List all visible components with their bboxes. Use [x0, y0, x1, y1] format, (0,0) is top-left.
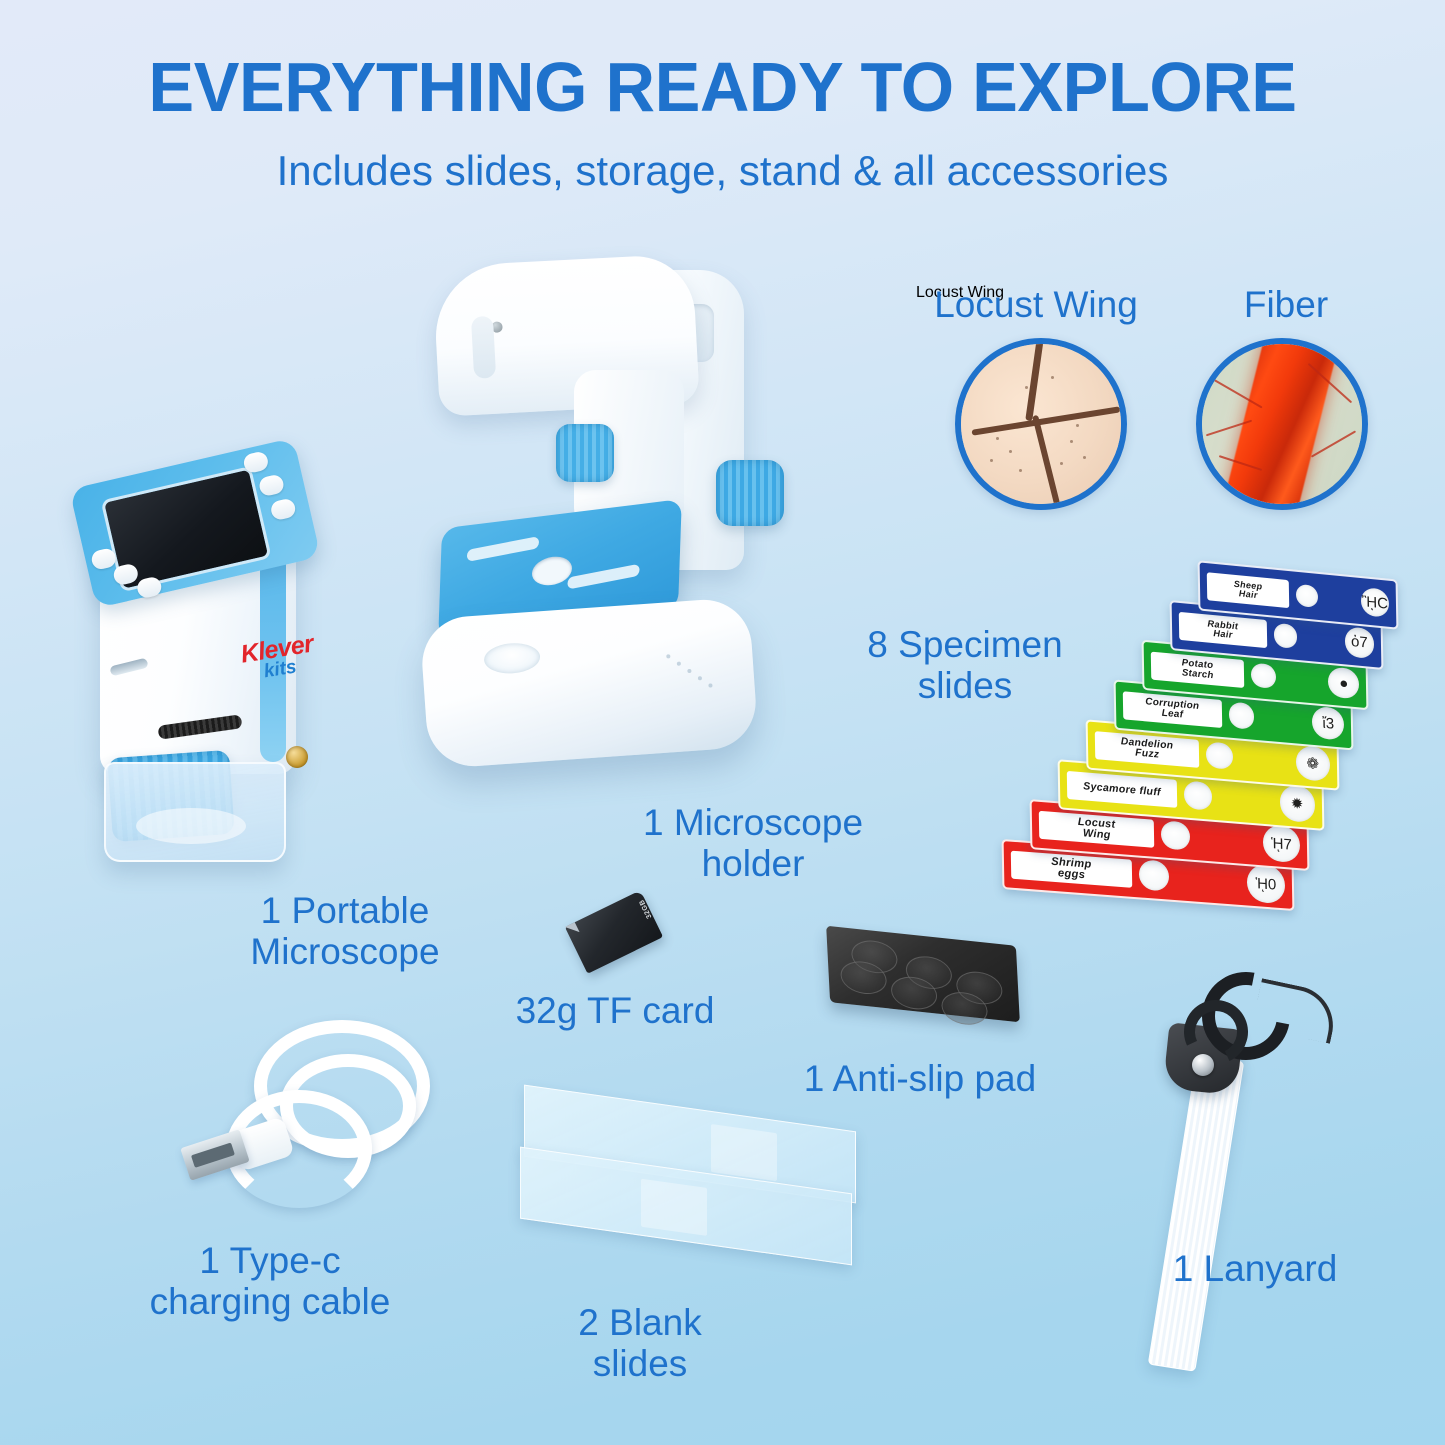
microscope-button-3 — [269, 497, 297, 521]
locust-wing-image — [961, 344, 1121, 504]
specimen-slide-window — [1184, 781, 1212, 811]
specimen-slide-window — [1229, 702, 1255, 730]
base-light-ring — [483, 641, 541, 675]
locust-wing-circle — [955, 338, 1127, 510]
caption-line-1: 1 Type-c — [80, 1240, 460, 1281]
holder-base — [419, 597, 759, 770]
caption-portable-microscope: 1 Portable Microscope — [180, 890, 510, 973]
caption-line-2: slides — [500, 1343, 780, 1384]
specimen-slide-illustration: ὀ7 — [1344, 627, 1374, 659]
caption-microscope-holder: 1 Microscope holder — [588, 802, 918, 885]
blank-slides-product — [520, 1108, 890, 1278]
caption-line-1: 1 Anti-slip pad — [740, 1058, 1100, 1099]
specimen-slide-label: Shrimp eggs — [1011, 851, 1132, 888]
specimen-slide-illustration: ᾚC — [1361, 587, 1389, 618]
caption-line-1: 32g TF card — [450, 990, 780, 1031]
specimen-slide-illustration: ᾙ7 — [1263, 824, 1300, 863]
brand-logo: Klever kits — [239, 633, 317, 684]
caption-anti-slip-pad: 1 Anti-slip pad — [740, 1058, 1100, 1099]
lanyard-strap — [1148, 1054, 1245, 1372]
caption-line-1: 1 Microscope — [588, 802, 918, 843]
specimen-slides-stack: Sheep HairᾚCRabbit Hairὀ7Potato Starch●C… — [1002, 566, 1402, 936]
microscope-clear-base — [104, 762, 286, 862]
stage-clip-right — [567, 564, 639, 590]
specimen-slide-window — [1206, 741, 1233, 770]
specimen-slide-label: Sycamore fluff — [1067, 771, 1177, 808]
specimen-slide-window — [1296, 584, 1318, 608]
fiber-label: Fiber — [1186, 284, 1386, 326]
fiber-circle — [1196, 338, 1368, 510]
microscope-button-2 — [258, 473, 286, 497]
tf-card-body: 32GB — [565, 890, 663, 974]
specimen-slide-illustration: ἴ3 — [1312, 706, 1345, 741]
caption-lanyard: 1 Lanyard — [1110, 1248, 1400, 1289]
portable-microscope-product: Klever kits — [78, 432, 348, 887]
caption-line-1: 2 Blank — [500, 1302, 780, 1343]
microscope-focus-wheel — [157, 714, 242, 740]
holder-knob-left — [556, 424, 614, 482]
specimen-slide-label: Sheep Hair — [1207, 572, 1290, 608]
stage-clip-left — [467, 536, 539, 562]
lanyard-product — [1110, 960, 1340, 1380]
stage-aperture — [531, 554, 572, 587]
caption-line-2: Microscope — [180, 931, 510, 972]
specimen-slide-label: Dandelion Fuzz — [1095, 731, 1200, 768]
tf-card-product: 32GB — [566, 898, 664, 970]
anti-slip-pad-product — [828, 928, 1036, 1038]
specimen-slide-illustration: ❁ — [1296, 745, 1330, 782]
microscope-card-slot — [109, 658, 148, 677]
page-title: EVERYTHING READY TO EXPLORE — [14, 52, 1430, 122]
infographic-canvas: EVERYTHING READY TO EXPLORE Includes sli… — [0, 0, 1445, 1445]
specimen-slide-illustration: ᾙ0 — [1247, 863, 1286, 904]
holder-arm-screw — [491, 321, 503, 333]
holder-knob-right — [716, 460, 784, 526]
specimen-slide-label: Potato Starch — [1151, 652, 1245, 688]
tf-card-print: 32GB — [638, 898, 653, 919]
specimen-slide-illustration: ✹ — [1279, 785, 1315, 823]
specimen-slide-window — [1251, 662, 1276, 689]
caption-tf-card: 32g TF card — [450, 990, 780, 1031]
specimen-slide-window — [1161, 820, 1190, 851]
caption-line-1: 1 Portable — [180, 890, 510, 931]
caption-blank-slides: 2 Blank slides — [500, 1302, 780, 1385]
specimen-slide-label: Rabbit Hair — [1179, 612, 1267, 648]
specimen-slide-label: Corruption Leaf — [1123, 691, 1222, 728]
specimen-slide-label: Locust Wing — [1039, 811, 1155, 848]
specimen-slide-window — [1139, 859, 1170, 891]
caption-line-2: holder — [588, 843, 918, 884]
specimen-slide-illustration: ● — [1328, 666, 1359, 700]
page-subtitle: Includes slides, storage, stand & all ac… — [0, 150, 1445, 192]
fiber-image — [1202, 344, 1362, 504]
caption-charging-cable: 1 Type-c charging cable — [80, 1240, 460, 1323]
specimen-slide-window — [1274, 623, 1298, 648]
charging-cable-product — [168, 1020, 448, 1220]
microscope-holder-product — [418, 252, 808, 812]
microscope-tripod-socket — [286, 746, 308, 768]
caption-line-2: charging cable — [80, 1281, 460, 1322]
locust-wing-label: Locust Wing — [916, 284, 1156, 326]
caption-line-1: 1 Lanyard — [1110, 1248, 1400, 1289]
anti-slip-pad-body — [826, 926, 1020, 1023]
